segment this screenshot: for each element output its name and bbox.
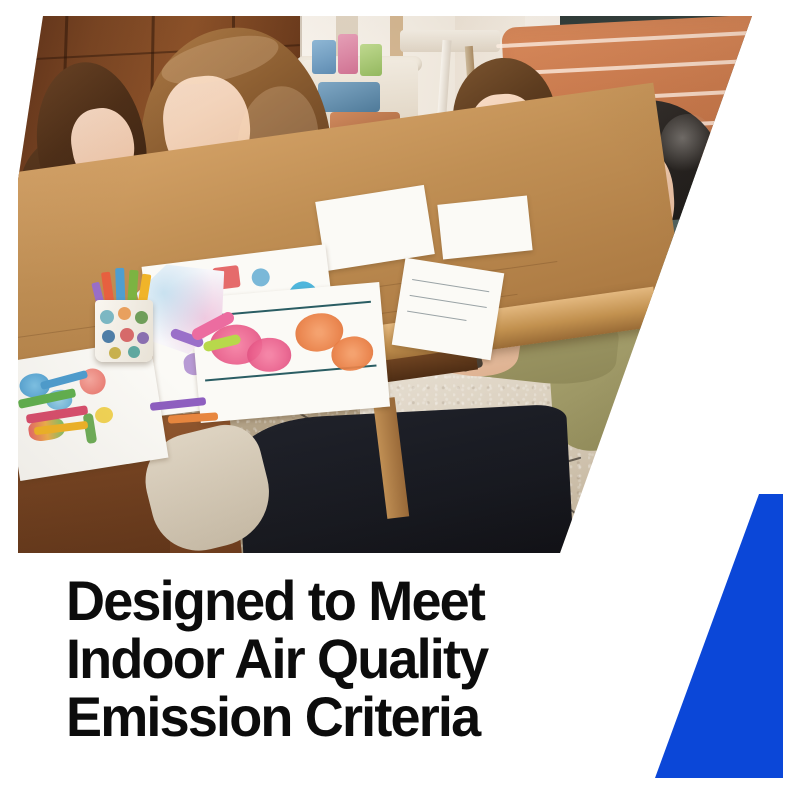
basket-item [338, 34, 358, 74]
sketch-paper [392, 258, 505, 361]
headline-line-1: Designed to Meet [66, 572, 568, 630]
blue-wedge [640, 480, 800, 790]
page-title: Designed to Meet Indoor Air Quality Emis… [66, 572, 586, 746]
ceramic-pen-cup [95, 300, 153, 362]
man-hair-grey-highlight [660, 114, 716, 174]
basket-item [360, 44, 382, 76]
headline-line-3: Emission Criteria [66, 688, 568, 746]
headline-line-2: Indoor Air Quality [66, 630, 568, 688]
basket-item [318, 82, 380, 112]
basket-item [312, 40, 336, 74]
craft-paper-sheet [437, 195, 532, 259]
poster-canvas: Designed to Meet Indoor Air Quality Emis… [0, 0, 800, 800]
